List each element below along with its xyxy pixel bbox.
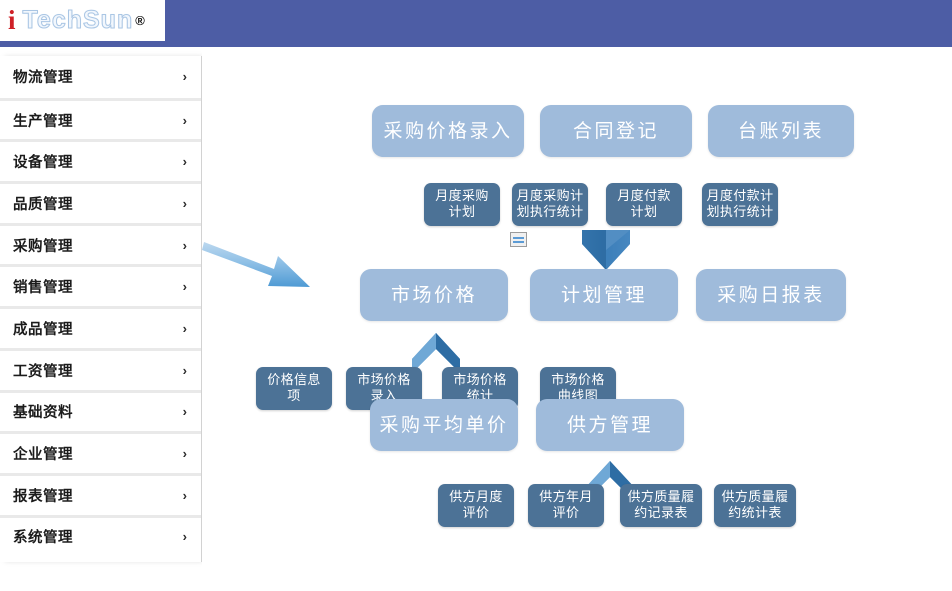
sidebar-item-chengpin[interactable]: 成品管理 › <box>0 306 201 348</box>
sidebar-item-xiaoshou[interactable]: 销售管理 › <box>0 264 201 306</box>
node-line-2: 划执行统计 <box>512 205 587 220</box>
chevron-right-icon: › <box>183 405 187 418</box>
app-header-bar: i TechSun ® <box>0 0 952 47</box>
list-handle-icon[interactable] <box>510 232 527 247</box>
sidebar-item-caigou[interactable]: 采购管理 › <box>0 223 201 265</box>
sidebar-item-label: 工资管理 <box>13 360 73 381</box>
sidebar-item-xitong[interactable]: 系统管理 › <box>0 515 201 557</box>
grip-line <box>513 237 524 239</box>
node-line-1: 市场价格 <box>353 373 415 388</box>
sidebar-item-wuliu[interactable]: 物流管理 › <box>0 56 201 98</box>
node-supplier-management[interactable]: 供方管理 <box>536 399 684 451</box>
chevron-right-icon: › <box>183 114 187 127</box>
sidebar-item-label: 报表管理 <box>13 485 73 506</box>
sidebar-item-shengchan[interactable]: 生产管理 › <box>0 98 201 140</box>
node-line-1: 月度付款计 <box>702 189 777 204</box>
node-line-2: 评价 <box>445 506 507 521</box>
node-line-2: 评价 <box>535 506 597 521</box>
node-ledger-list[interactable]: 台账列表 <box>708 105 854 157</box>
chevron-right-icon: › <box>183 155 187 168</box>
logo-i-mark: i <box>8 7 16 34</box>
sidebar-item-label: 基础资料 <box>13 401 73 422</box>
node-monthly-purchase-plan[interactable]: 月度采购 计划 <box>424 183 500 226</box>
node-monthly-payment-plan[interactable]: 月度付款 计划 <box>606 183 682 226</box>
chevron-right-icon: › <box>183 530 187 543</box>
chevron-right-icon: › <box>183 239 187 252</box>
chevron-right-icon: › <box>183 280 187 293</box>
node-line-1: 市场价格 <box>449 373 511 388</box>
node-line-2: 划执行统计 <box>702 205 777 220</box>
node-line-1: 供方质量履 <box>623 490 698 505</box>
sidebar-item-qiye[interactable]: 企业管理 › <box>0 431 201 473</box>
sidebar-item-label: 采购管理 <box>13 235 73 256</box>
sidebar-item-jichuziliao[interactable]: 基础资料 › <box>0 390 201 432</box>
node-monthly-purchase-plan-execution-stats[interactable]: 月度采购计 划执行统计 <box>512 183 588 226</box>
chevron-right-icon: › <box>183 70 187 83</box>
node-line-1: 供方月度 <box>445 490 507 505</box>
node-line-1: 月度采购 <box>431 189 493 204</box>
chevron-right-icon: › <box>183 489 187 502</box>
sidebar-item-label: 系统管理 <box>13 526 73 547</box>
node-supplier-annual-monthly-evaluation[interactable]: 供方年月 评价 <box>528 484 604 527</box>
node-line-2: 计划 <box>613 205 675 220</box>
node-purchase-daily-report[interactable]: 采购日报表 <box>696 269 846 321</box>
node-line-1: 市场价格 <box>547 373 609 388</box>
chevron-right-icon: › <box>183 322 187 335</box>
chevron-right-icon: › <box>183 447 187 460</box>
node-line-2: 计划 <box>431 205 493 220</box>
node-line-1: 月度付款 <box>613 189 675 204</box>
sidebar-item-pinzhi[interactable]: 品质管理 › <box>0 181 201 223</box>
node-supplier-quality-compliance-stats[interactable]: 供方质量履 约统计表 <box>714 484 796 527</box>
sidebar-item-gongzi[interactable]: 工资管理 › <box>0 348 201 390</box>
chevron-down-arrow-icon <box>580 228 632 272</box>
main-navigation-sidebar: 物流管理 › 生产管理 › 设备管理 › 品质管理 › 采购管理 › 销售管理 … <box>0 56 202 562</box>
node-supplier-quality-compliance-record[interactable]: 供方质量履 约记录表 <box>620 484 702 527</box>
node-line-2: 项 <box>263 389 325 404</box>
grip-line <box>513 241 524 243</box>
node-line-2: 约记录表 <box>623 506 698 521</box>
sidebar-item-label: 品质管理 <box>13 193 73 214</box>
node-purchase-average-price[interactable]: 采购平均单价 <box>370 399 518 451</box>
node-line-1: 供方年月 <box>535 490 597 505</box>
node-line-1: 供方质量履 <box>717 490 792 505</box>
sidebar-item-label: 销售管理 <box>13 276 73 297</box>
chevron-right-icon: › <box>183 197 187 210</box>
sidebar-item-label: 企业管理 <box>13 443 73 464</box>
node-contract-registration[interactable]: 合同登记 <box>540 105 692 157</box>
node-line-1: 月度采购计 <box>512 189 587 204</box>
sidebar-item-baobiao[interactable]: 报表管理 › <box>0 473 201 515</box>
node-supplier-monthly-evaluation[interactable]: 供方月度 评价 <box>438 484 514 527</box>
sidebar-item-shebei[interactable]: 设备管理 › <box>0 139 201 181</box>
sidebar-item-label: 物流管理 <box>13 66 73 87</box>
registered-trademark-icon: ® <box>135 14 145 27</box>
sidebar-item-label: 生产管理 <box>13 110 73 131</box>
node-line-2: 约统计表 <box>717 506 792 521</box>
sidebar-item-label: 成品管理 <box>13 318 73 339</box>
logo-wordmark: TechSun <box>23 8 134 33</box>
procurement-module-diagram: 采购价格录入 合同登记 台账列表 月度采购 计划 月度采购计 划执行统计 月度付… <box>202 47 952 591</box>
node-monthly-payment-plan-execution-stats[interactable]: 月度付款计 划执行统计 <box>702 183 778 226</box>
chevron-right-icon: › <box>183 364 187 377</box>
sidebar-item-label: 设备管理 <box>13 151 73 172</box>
node-price-info-item[interactable]: 价格信息 项 <box>256 367 332 410</box>
node-market-price[interactable]: 市场价格 <box>360 269 508 321</box>
brand-logo[interactable]: i TechSun ® <box>0 0 165 41</box>
node-line-1: 价格信息 <box>263 373 325 388</box>
pointer-arrow-icon <box>202 232 318 297</box>
node-plan-management[interactable]: 计划管理 <box>530 269 678 321</box>
node-purchase-price-entry[interactable]: 采购价格录入 <box>372 105 524 157</box>
